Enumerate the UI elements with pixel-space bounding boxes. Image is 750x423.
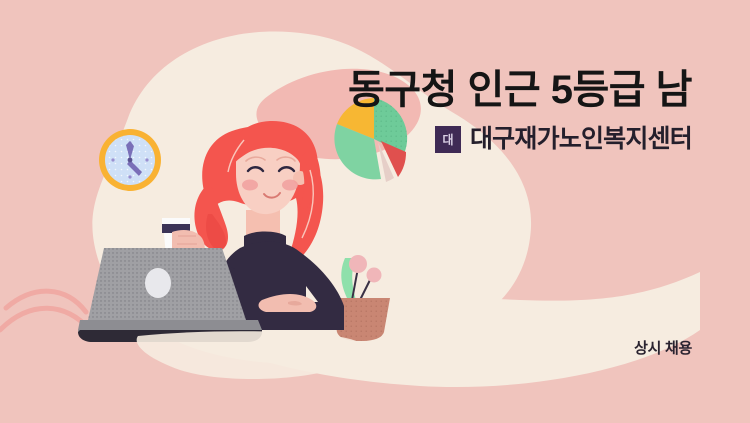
job-posting-banner: 동구청 인근 5등급 남 대 대구재가노인복지센터 상시 채용 (0, 0, 750, 423)
clock-tick-3 (145, 158, 148, 161)
cheek-left (242, 180, 258, 191)
cup-lid (162, 218, 190, 224)
clock-center-pin (128, 158, 133, 163)
plant-flower-2 (367, 268, 382, 283)
clock-tick-6 (128, 175, 131, 178)
laptop-logo (145, 268, 171, 298)
wall-clock (99, 129, 161, 191)
illustration-artwork (0, 0, 750, 423)
cheek-right (282, 180, 298, 191)
clock-tick-9 (111, 158, 114, 161)
plant-flower-1 (349, 255, 367, 273)
